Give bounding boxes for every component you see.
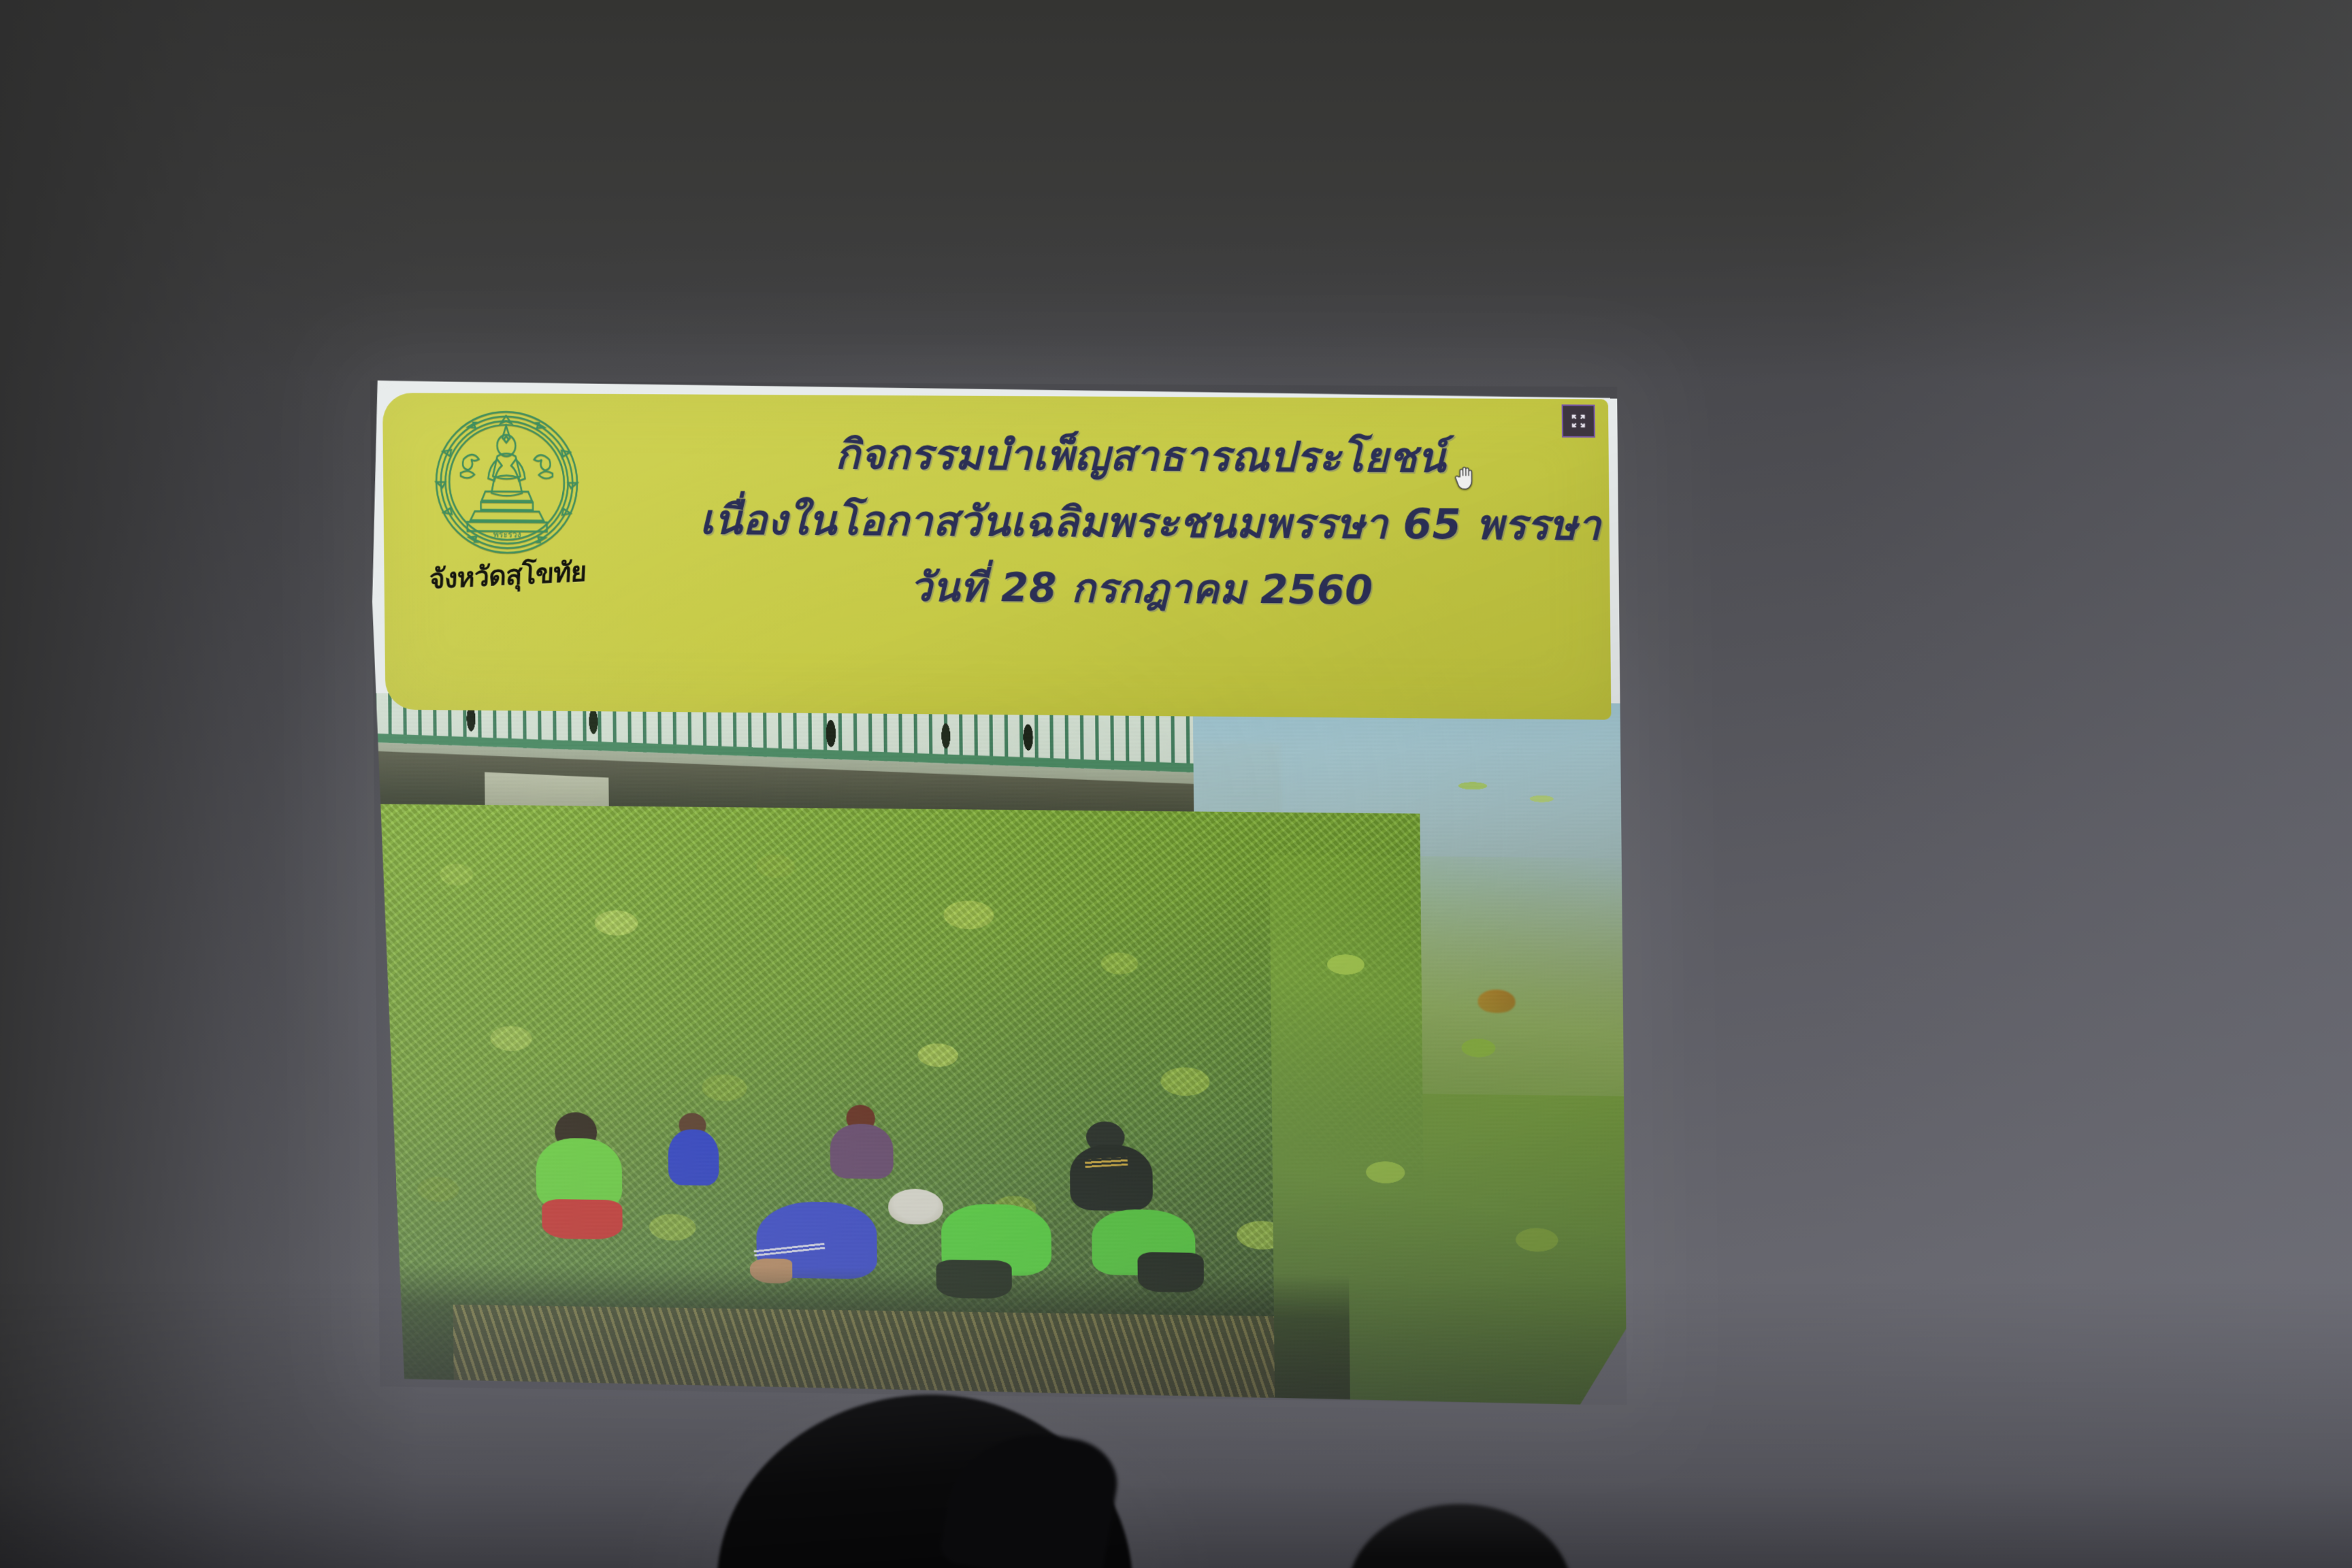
slide-banner: พระร่วง จังหวัดสุโขทัย กิจกรรมบำเพ็ญสาธา… <box>382 393 1612 720</box>
collapse-arrows-icon <box>1569 412 1588 431</box>
screenshot-root: พระร่วง จังหวัดสุโขทัย กิจกรรมบำเพ็ญสาธา… <box>0 0 2352 1568</box>
photo-volunteer-green-shirt <box>532 1115 635 1239</box>
banner-headline: กิจกรรมบำเพ็ญสาธารณประโยชน์ เนื่องในโอกา… <box>699 432 1586 612</box>
banner-line-1: กิจกรรมบำเพ็ญสาธารณประโยชน์ <box>699 432 1584 480</box>
photo-volunteer-dark-uniform <box>1069 1121 1156 1212</box>
banner-line-3: วันที่ 28 กรกฎาคม 2560 <box>700 565 1586 613</box>
banner-line-2: เนื่องในโอกาสวันเฉลิมพระชนมพรรษา 65 พรรษ… <box>700 499 1585 548</box>
exit-fullscreen-button[interactable] <box>1561 404 1595 438</box>
open-hand-icon <box>1454 465 1478 491</box>
room-bottom-shadow <box>0 1282 2352 1568</box>
photo-volunteer-brown <box>829 1105 896 1181</box>
province-seal-caption: จังหวัดสุโขทัย <box>420 549 595 602</box>
projected-slide-area: พระร่วง จังหวัดสุโขทัย กิจกรรมบำเพ็ญสาธา… <box>370 380 1627 1405</box>
sukhothai-province-seal-icon: พระร่วง <box>429 406 584 559</box>
province-seal-block: พระร่วง จังหวัดสุโขทัย <box>419 406 595 611</box>
photo-volunteer-blue-small <box>668 1113 721 1188</box>
svg-text:พระร่วง: พระร่วง <box>493 530 521 540</box>
grab-hand-cursor[interactable] <box>1454 465 1478 491</box>
slide-canvas: พระร่วง จังหวัดสุโขทัย กิจกรรมบำเพ็ญสาธา… <box>370 380 1627 1405</box>
